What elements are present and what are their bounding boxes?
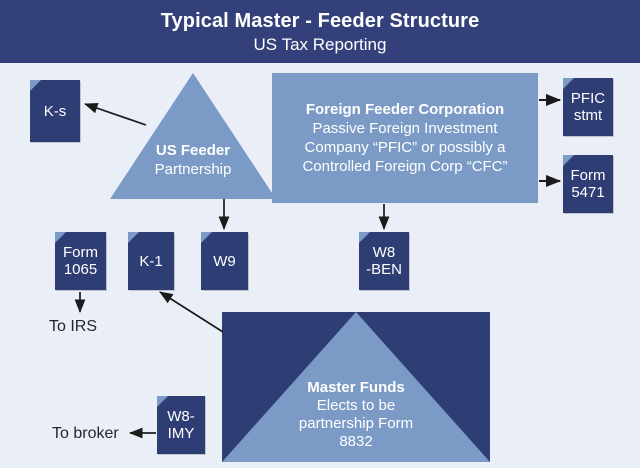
master-funds-line2: partnership Form — [231, 415, 481, 433]
document-k-s[interactable]: K-s — [30, 80, 80, 142]
page-fold-icon — [157, 396, 168, 407]
to-broker-label: To broker — [52, 424, 119, 443]
document-form-1065-line1: Form — [63, 244, 98, 261]
foreign-feeder-line2: Company “PFIC” or possibly a — [305, 138, 506, 157]
document-k-1-line1: K-1 — [139, 253, 162, 270]
document-w9-line1: W9 — [213, 253, 236, 270]
document-k-1[interactable]: K-1 — [128, 232, 174, 290]
page-fold-icon — [30, 80, 41, 91]
document-form-5471-line1: Form — [571, 167, 606, 184]
document-k-s-line1: K-s — [44, 103, 67, 120]
document-w9[interactable]: W9 — [201, 232, 248, 290]
foreign-feeder-name: Foreign Feeder Corporation — [306, 100, 504, 119]
document-form-5471-line2: 5471 — [571, 184, 604, 201]
page-fold-icon — [563, 155, 574, 166]
page-fold-icon — [563, 78, 574, 89]
us-feeder-triangle — [110, 73, 276, 199]
document-w8-ben[interactable]: W8 -BEN — [359, 232, 409, 290]
master-funds-line3: 8832 — [231, 433, 481, 451]
us-feeder-name: US Feeder — [113, 141, 273, 160]
page-fold-icon — [359, 232, 370, 243]
header-banner: Typical Master - Feeder Structure US Tax… — [0, 0, 640, 63]
document-w8-imy[interactable]: W8- IMY — [157, 396, 205, 454]
master-funds-name: Master Funds — [231, 379, 481, 397]
master-funds-line1: Elects to be — [231, 397, 481, 415]
document-form-1065[interactable]: Form 1065 — [55, 232, 106, 290]
document-w8-imy-line1: W8- — [167, 408, 195, 425]
page-title: Typical Master - Feeder Structure — [161, 9, 480, 33]
page-fold-icon — [55, 232, 66, 243]
foreign-feeder-line1: Passive Foreign Investment — [312, 119, 497, 138]
document-form-1065-line2: 1065 — [64, 261, 97, 278]
foreign-feeder-line3: Controlled Foreign Corp “CFC” — [302, 157, 507, 176]
us-feeder-label: US Feeder Partnership — [113, 141, 273, 179]
master-funds-label: Master Funds Elects to be partnership Fo… — [231, 379, 481, 451]
page-fold-icon — [128, 232, 139, 243]
us-feeder-subtitle: Partnership — [113, 160, 273, 179]
document-pfic-stmt-line1: PFIC — [571, 90, 605, 107]
foreign-feeder-box: Foreign Feeder Corporation Passive Forei… — [272, 73, 538, 203]
page-subtitle: US Tax Reporting — [254, 34, 387, 55]
document-form-5471[interactable]: Form 5471 — [563, 155, 613, 213]
page-fold-icon — [201, 232, 212, 243]
document-w8-ben-line1: W8 — [373, 244, 396, 261]
document-pfic-stmt-line2: stmt — [574, 107, 602, 124]
document-w8-ben-line2: -BEN — [366, 261, 402, 278]
document-w8-imy-line2: IMY — [168, 425, 195, 442]
document-pfic-stmt[interactable]: PFIC stmt — [563, 78, 613, 136]
diagram-canvas: Typical Master - Feeder Structure US Tax… — [0, 0, 640, 468]
arrow-master-funds-to-k-1 — [160, 292, 223, 332]
to-irs-label: To IRS — [49, 317, 97, 336]
